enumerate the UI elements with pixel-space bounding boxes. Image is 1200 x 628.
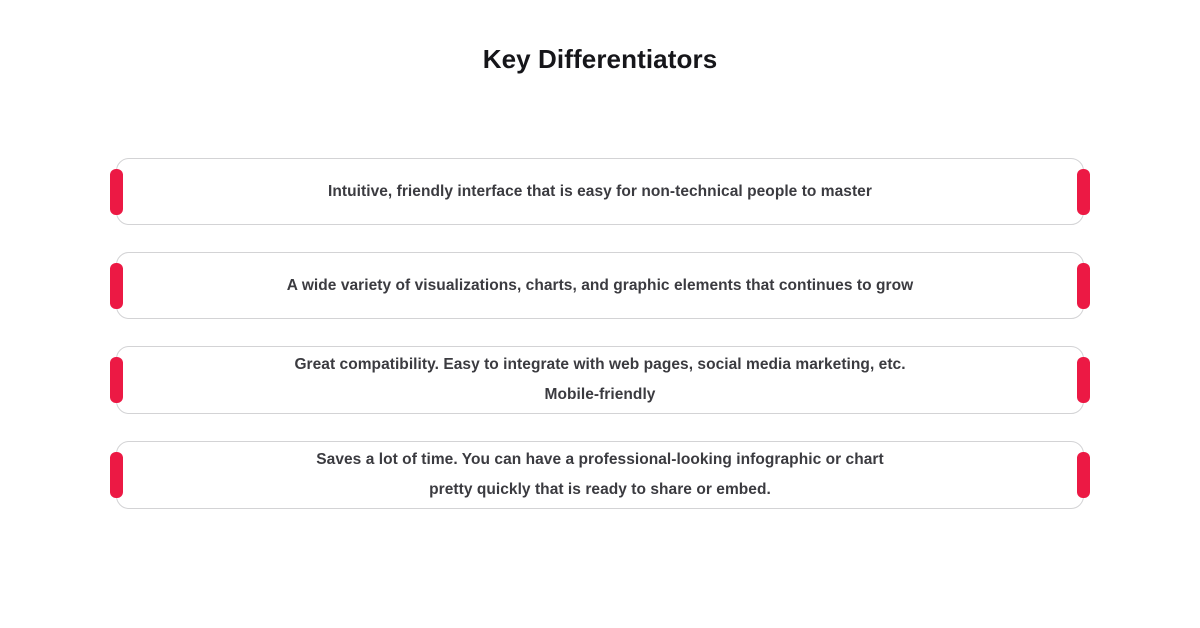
slide-canvas: Key Differentiators Intuitive, friendly … xyxy=(0,0,1200,628)
differentiator-card[interactable]: Saves a lot of time. You can have a prof… xyxy=(116,441,1084,509)
accent-bar-left-icon xyxy=(110,263,123,309)
differentiator-card[interactable]: Great compatibility. Easy to integrate w… xyxy=(116,346,1084,414)
accent-bar-right-icon xyxy=(1077,169,1090,215)
accent-bar-left-icon xyxy=(110,169,123,215)
differentiator-card-text: Saves a lot of time. You can have a prof… xyxy=(276,445,923,505)
accent-bar-right-icon xyxy=(1077,452,1090,498)
differentiator-card-text: Great compatibility. Easy to integrate w… xyxy=(254,350,945,410)
accent-bar-left-icon xyxy=(110,452,123,498)
differentiator-card[interactable]: Intuitive, friendly interface that is ea… xyxy=(116,158,1084,225)
page-title: Key Differentiators xyxy=(0,44,1200,75)
differentiator-card-text: Intuitive, friendly interface that is ea… xyxy=(288,177,912,207)
differentiator-card[interactable]: A wide variety of visualizations, charts… xyxy=(116,252,1084,319)
accent-bar-left-icon xyxy=(110,357,123,403)
accent-bar-right-icon xyxy=(1077,263,1090,309)
accent-bar-right-icon xyxy=(1077,357,1090,403)
differentiator-card-list: Intuitive, friendly interface that is ea… xyxy=(116,158,1084,509)
differentiator-card-text: A wide variety of visualizations, charts… xyxy=(247,271,953,301)
